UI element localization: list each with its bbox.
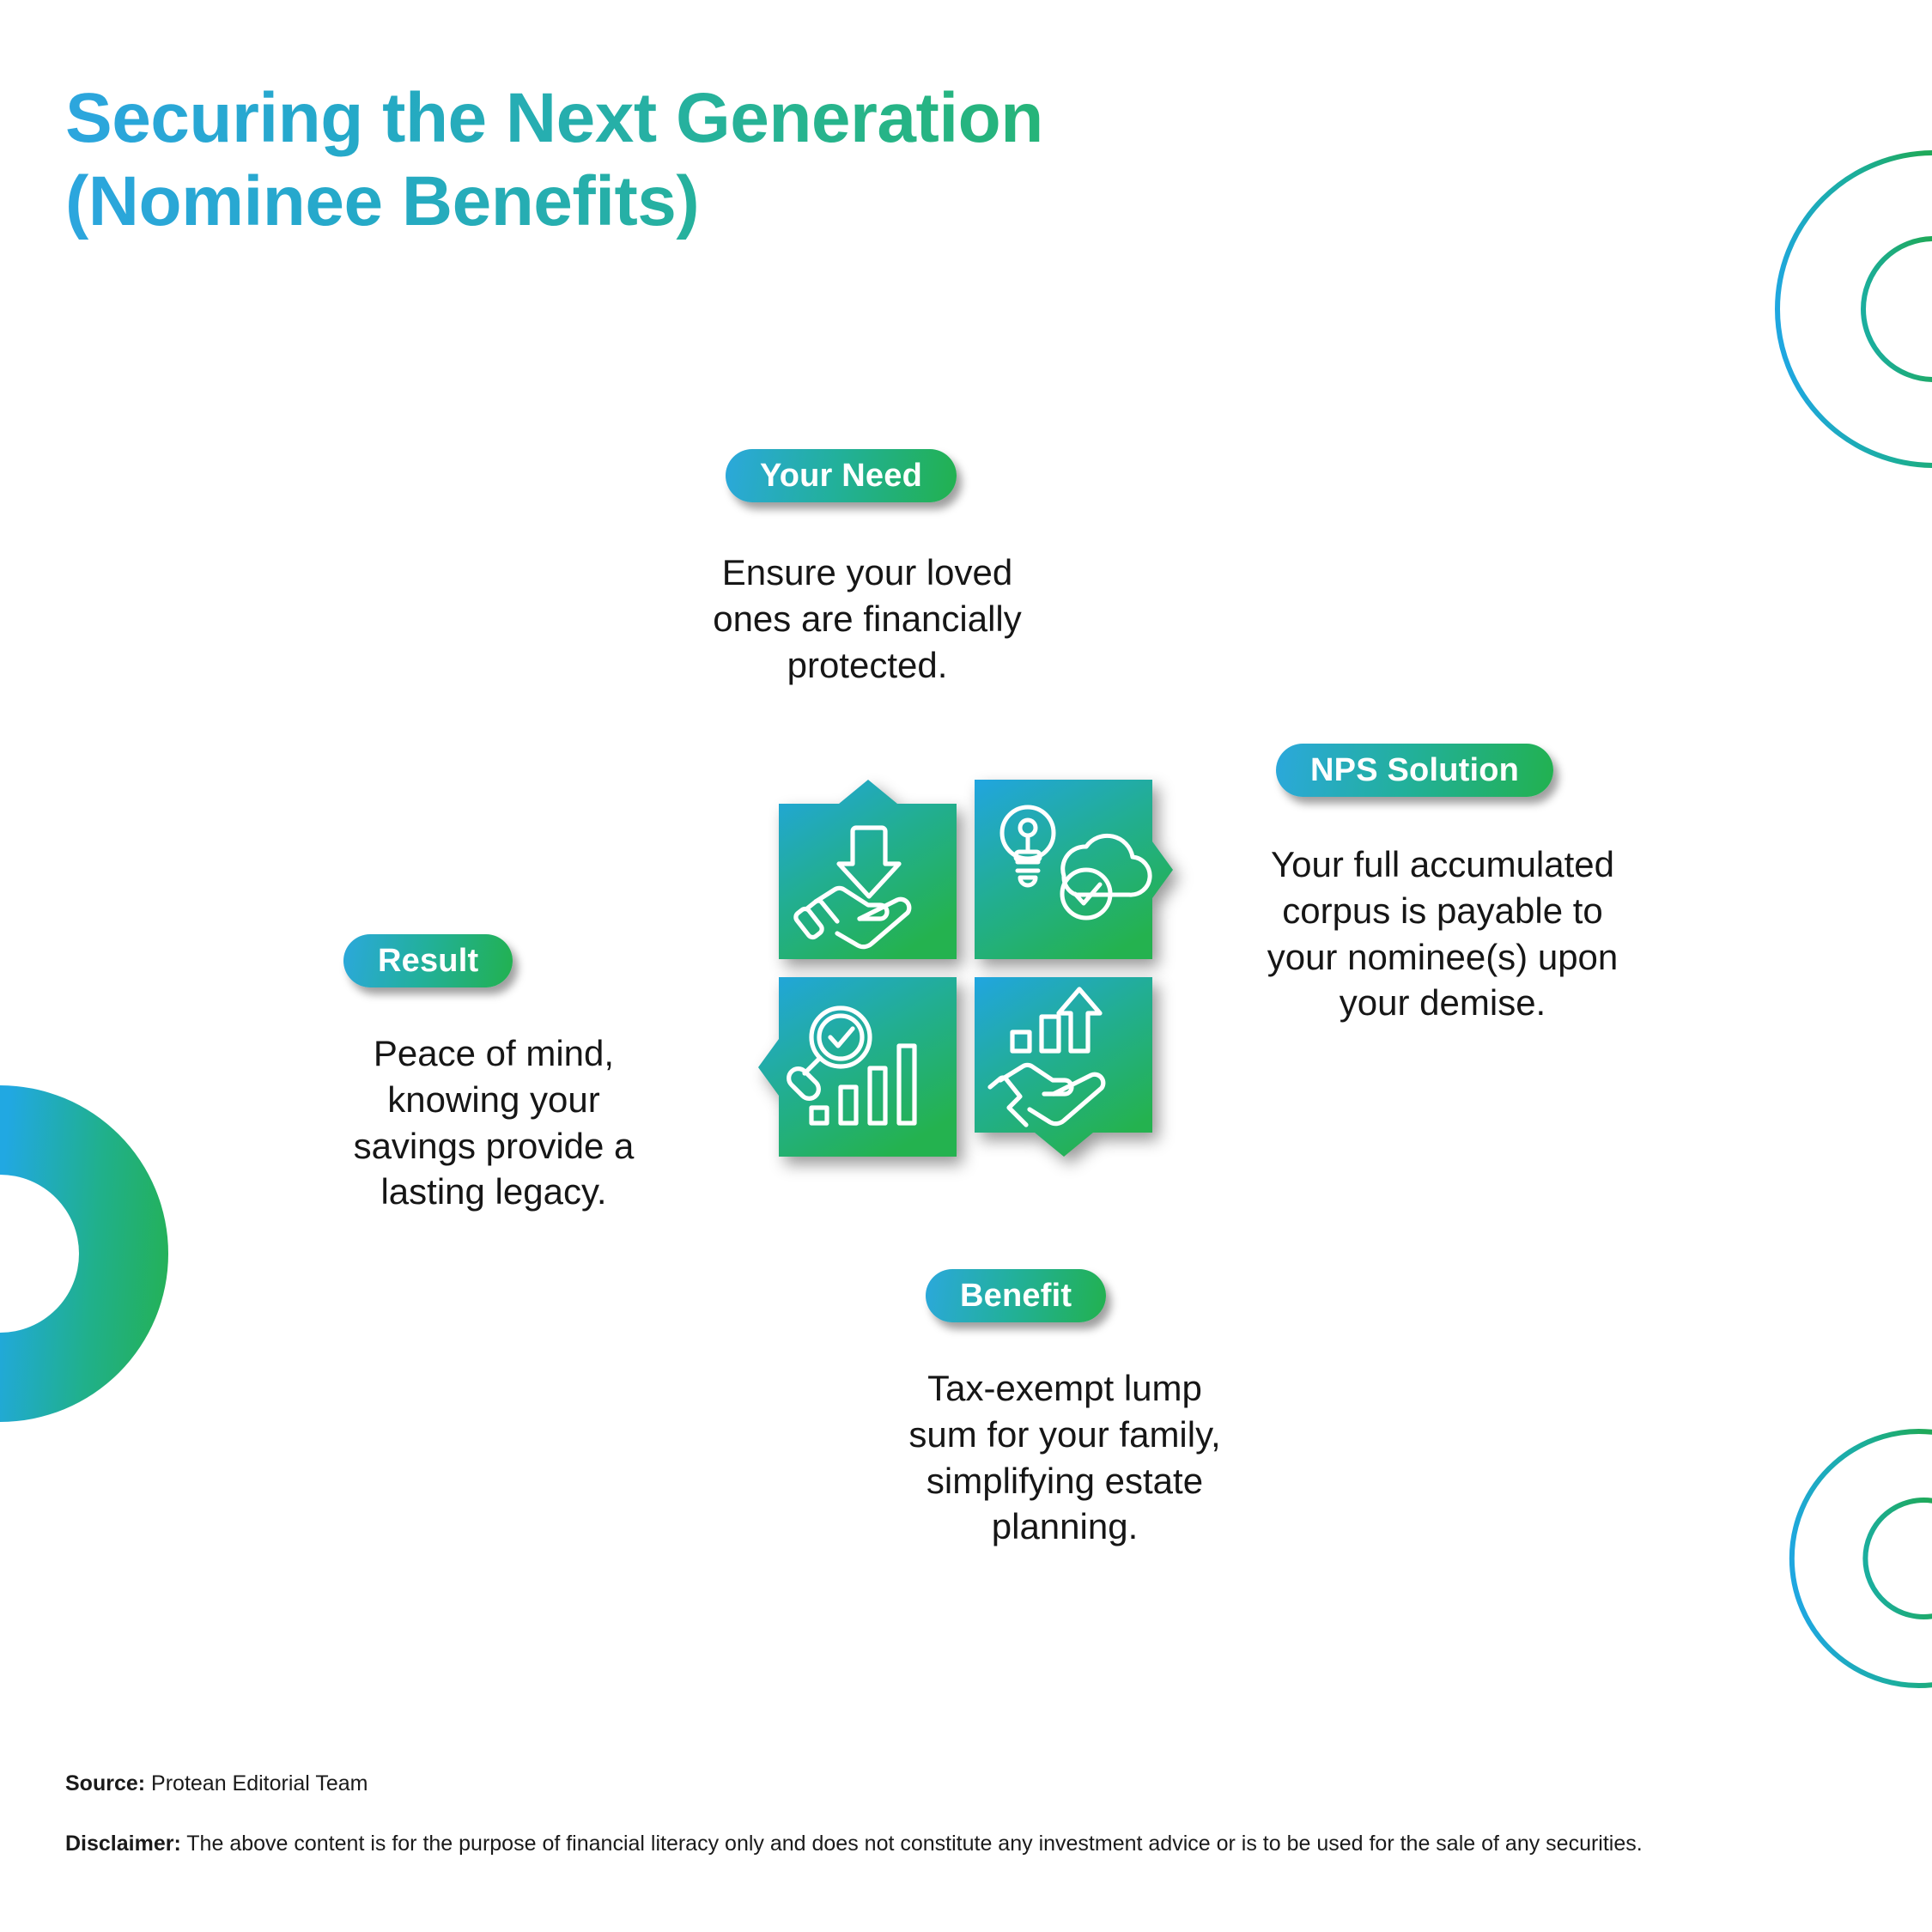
page-title-line-1: Securing the Next Generation (65, 77, 1353, 161)
footer: Source: Protean Editorial Team Disclaime… (65, 1769, 1868, 1859)
pill-result[interactable]: Result (343, 934, 513, 987)
infographic-canvas: Securing the Next Generation (Nominee Be… (0, 0, 1932, 1932)
copy-nps-solution: Your full accumulated corpus is payable … (1202, 841, 1683, 1026)
footer-disclaimer-value: The above content is for the purpose of … (181, 1832, 1643, 1856)
bottom-right-concentric-arcs-decoration (1752, 1417, 1932, 1704)
pill-benefit[interactable]: Benefit (926, 1269, 1106, 1322)
pill-your-need[interactable]: Your Need (726, 449, 957, 502)
copy-benefit: Tax-exempt lump sum for your family, sim… (824, 1365, 1305, 1550)
tile-nps-solution[interactable] (975, 780, 1152, 959)
footer-source: Source: Protean Editorial Team (65, 1769, 1868, 1800)
pill-nps-solution[interactable]: NPS Solution (1276, 744, 1553, 797)
footer-disclaimer: Disclaimer: The above content is for the… (65, 1829, 1868, 1860)
top-right-concentric-arcs-decoration (1735, 129, 1932, 494)
copy-your-need: Ensure your loved ones are financially p… (635, 550, 1099, 688)
page-title: Securing the Next Generation (Nominee Be… (65, 77, 1353, 244)
footer-disclaimer-label: Disclaimer: (65, 1832, 181, 1856)
footer-source-label: Source: (65, 1771, 145, 1795)
footer-source-value: Protean Editorial Team (145, 1771, 368, 1795)
tile-benefit[interactable] (975, 977, 1152, 1157)
page-title-line-2: (Nominee Benefits) (65, 161, 1353, 244)
left-gradient-ring-decoration (0, 1048, 172, 1464)
icon-tile-grid (758, 756, 1188, 1185)
tile-your-need[interactable] (779, 780, 957, 959)
copy-result: Peace of mind, knowing your savings prov… (305, 1030, 683, 1215)
tile-result[interactable] (779, 977, 957, 1157)
